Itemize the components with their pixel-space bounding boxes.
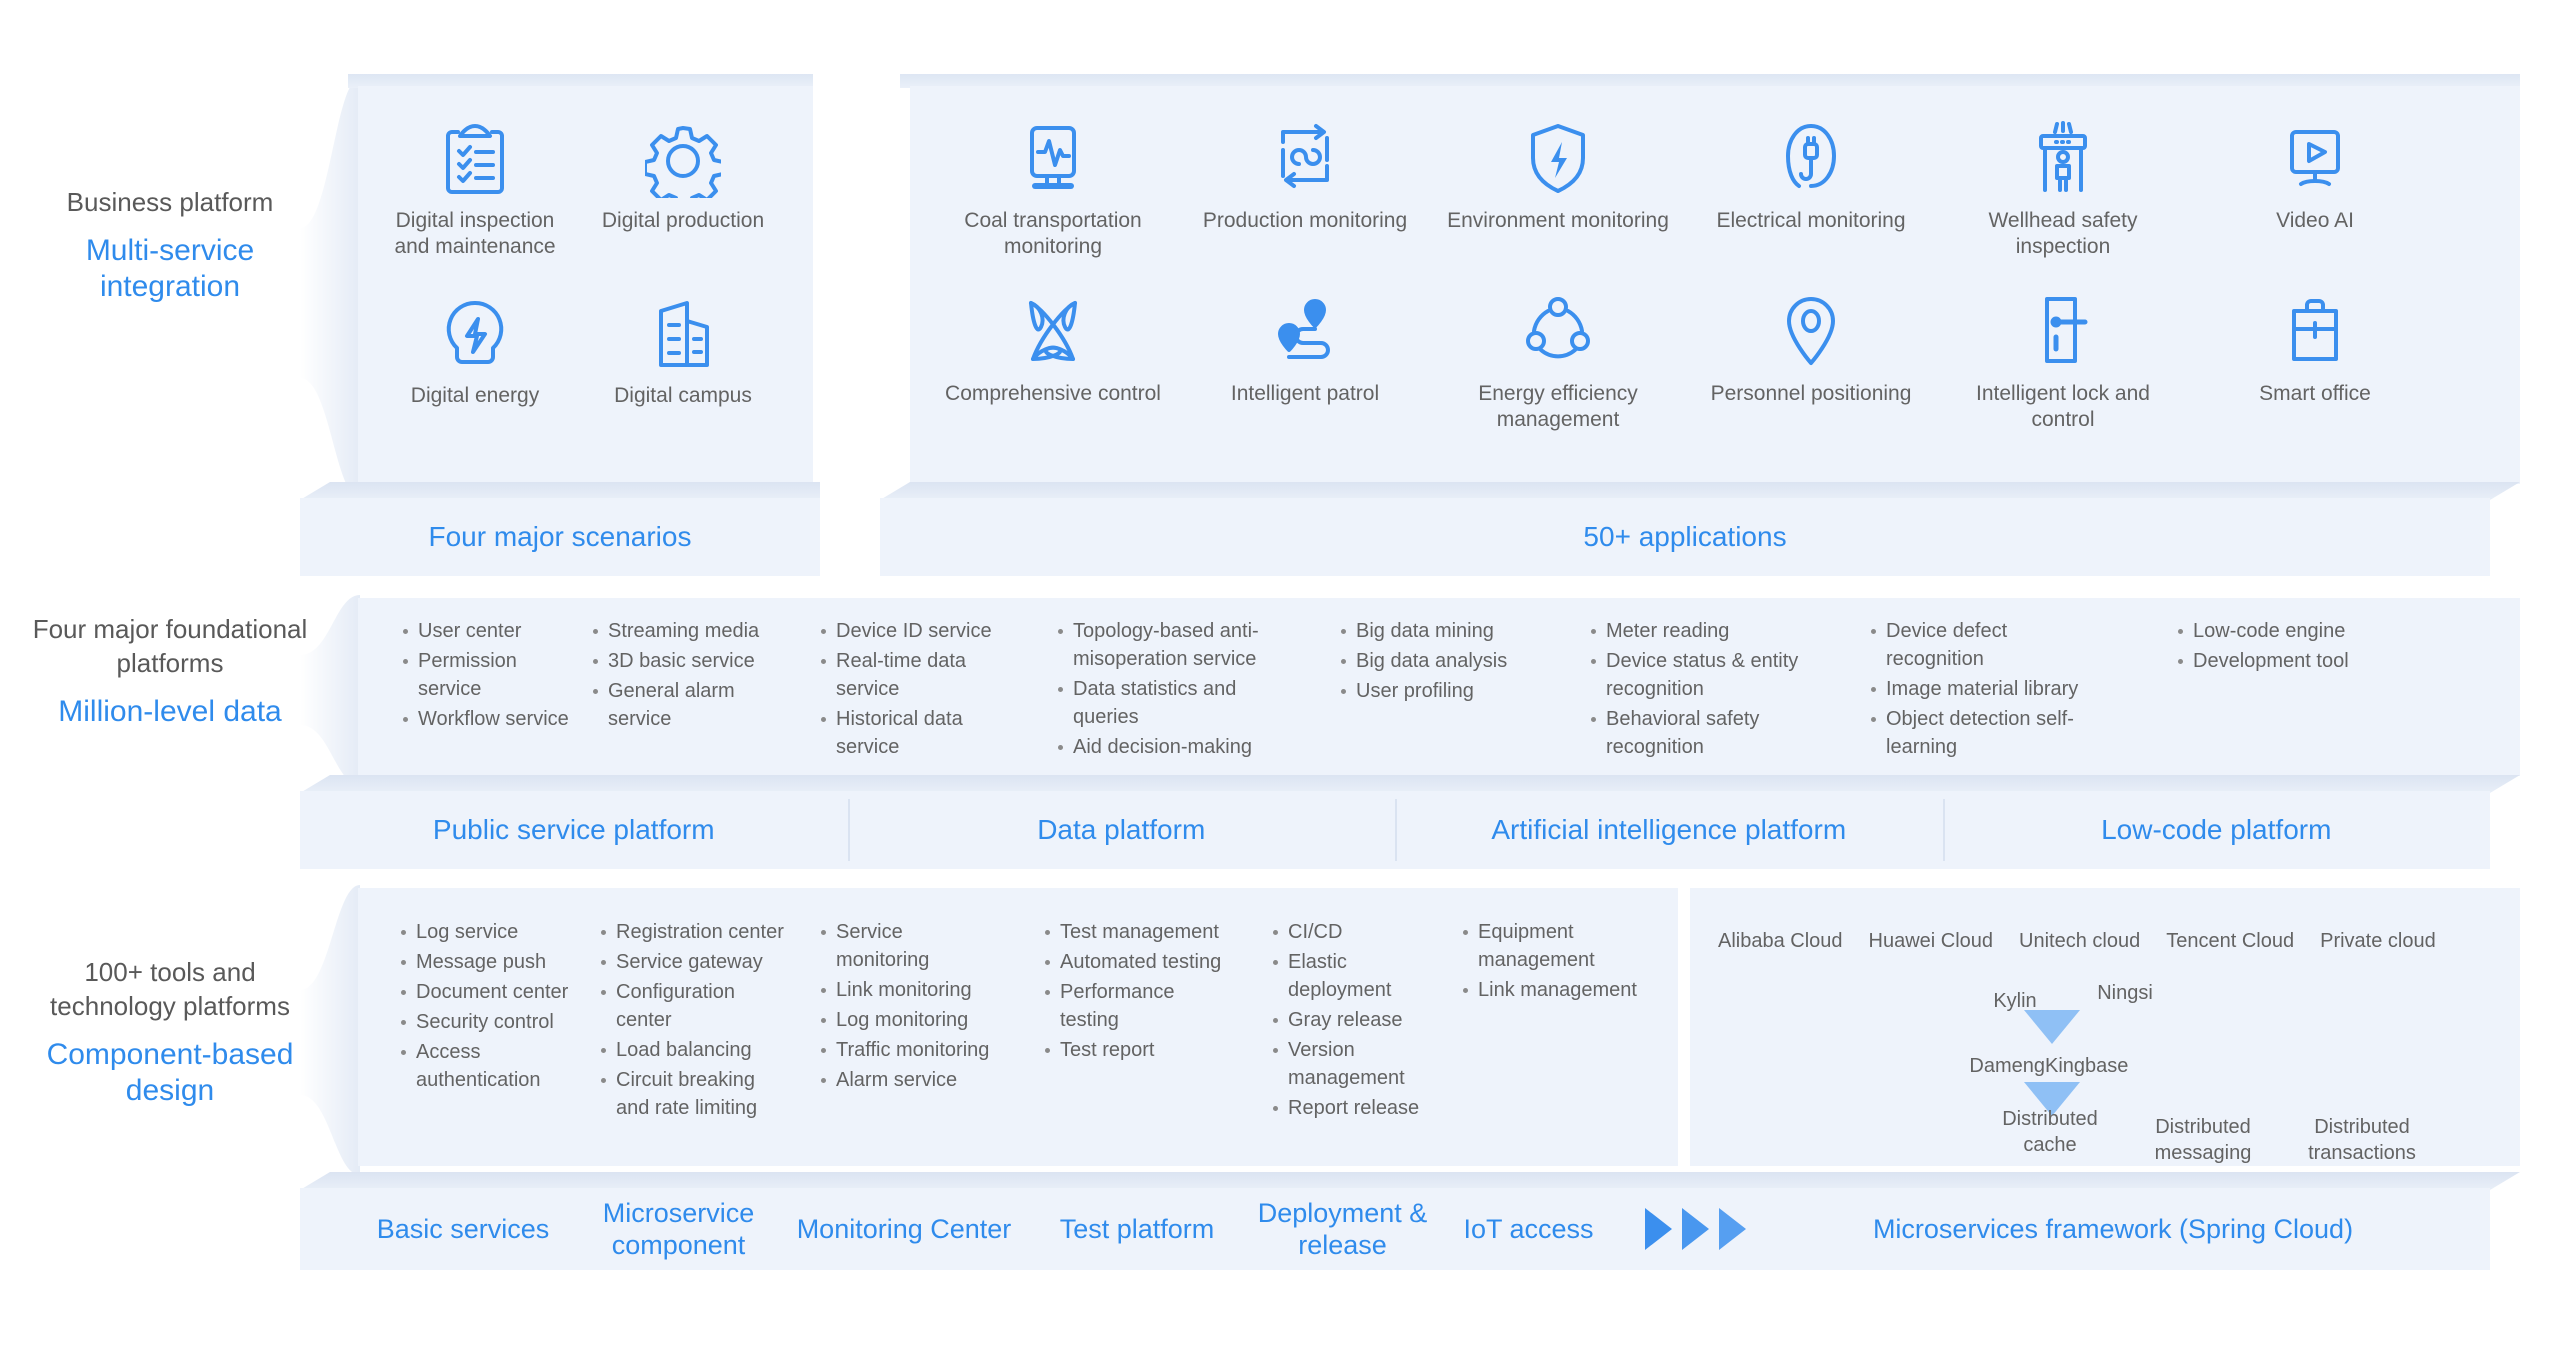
db-kingbase: Kingbase [2045,1053,2185,1079]
list-item: Automated testing [1042,948,1227,976]
distributed-cache: Distributed cache [1975,1106,2125,1158]
list-item: Log monitoring [818,1006,993,1034]
application-tile-1[interactable]: Production monitoring [1190,120,1420,234]
application-caption-10: Intelligent lock and control [1948,381,2178,433]
application-tile-2[interactable]: Environment monitoring [1443,120,1673,234]
list-item: Equipment management [1460,918,1650,974]
list-item: Historical data service [818,705,1008,761]
list-item: Object detection self-learning [1868,705,2108,761]
foundation-column-7: Low-code engine Development tool [2175,617,2395,677]
list-item: Low-code engine [2175,617,2395,645]
list-item: Topology-based anti-misoperation service [1055,617,1290,673]
scenario-tile-1[interactable]: Digital production [588,120,778,234]
platform-segment-ai[interactable]: Artificial intelligence platform [1395,814,1943,846]
application-tile-0[interactable]: Coal transportation monitoring [938,120,1168,260]
application-caption-9: Personnel positioning [1696,381,1926,407]
list-item: Access authentication [398,1038,573,1094]
foundation-highlight: Million-level data [20,694,320,730]
application-tile-8[interactable]: Energy efficiency management [1443,293,1673,433]
loop-infinity-icon [1190,120,1420,198]
list-item: Device ID service [818,617,1008,645]
cloud-provider: Unitech cloud [2019,930,2140,953]
foundation-column-3: Topology-based anti-misoperation service… [1055,617,1290,763]
component-column-3: Test management Automated testing Perfor… [1042,918,1227,1066]
scenario-caption-1: Digital production [588,208,778,234]
foundation-column-4: Big data mining Big data analysis User p… [1338,617,1548,707]
list-item: Test report [1042,1036,1227,1064]
distributed-messaging: Distributed messaging [2128,1114,2278,1166]
application-tile-11[interactable]: Smart office [2200,293,2430,407]
component-label-group: 100+ tools and technology platforms Comp… [20,955,320,1109]
video-play-icon [2200,120,2430,198]
arrow-right-2-icon [1682,1208,1709,1250]
list-item: Elastic deployment [1270,948,1430,1004]
business-platform-label-group: Business platform Multi-service integrat… [30,185,310,305]
flow-arrows-group [1645,1208,1746,1250]
list-item: Performance testing [1042,978,1227,1034]
arrow-right-3-icon [1719,1208,1746,1250]
list-item: Data statistics and queries [1055,675,1290,731]
list-item: Test management [1042,918,1227,946]
platform-segment-low-code[interactable]: Low-code platform [1943,814,2491,846]
application-tile-5[interactable]: Video AI [2200,120,2430,234]
component-column-2: Service monitoring Link monitoring Log m… [818,918,993,1096]
security-gate-icon [1948,120,2178,198]
foundation-label: Four major foundational platforms [20,612,320,680]
foundation-column-1: Streaming media 3D basic service General… [590,617,780,735]
list-item: Configuration center [598,978,788,1034]
foundation-label-group: Four major foundational platforms Millio… [20,612,320,730]
application-tile-4[interactable]: Wellhead safety inspection [1948,120,2178,260]
scenario-tile-0[interactable]: Digital inspection and maintenance [380,120,570,260]
list-item: Real-time data service [818,647,1008,703]
briefcase-icon [2200,293,2430,371]
list-item: Link management [1460,976,1650,1004]
list-item: Device defect recognition [1868,617,2108,673]
application-caption-6: Comprehensive control [938,381,1168,407]
component-highlight: Component-based design [20,1037,320,1109]
business-platform-highlight: Multi-service integration [30,233,310,305]
cloud-provider: Alibaba Cloud [1718,930,1843,953]
component-label: 100+ tools and technology platforms [20,955,320,1023]
list-item: CI/CD [1270,918,1430,946]
bottom-segment-microservices-framework[interactable]: Microservices framework (Spring Cloud) [1776,1213,2450,1245]
application-caption-11: Smart office [2200,381,2430,407]
list-item: Alarm service [818,1066,993,1094]
component-column-0: Log service Message push Document center… [398,918,573,1096]
list-item: User profiling [1338,677,1548,705]
route-pins-icon [1190,293,1420,371]
list-item: Security control [398,1008,573,1036]
application-caption-8: Energy efficiency management [1443,381,1673,433]
list-item: Report release [1270,1094,1430,1122]
arrow-right-1-icon [1645,1208,1672,1250]
component-column-5: Equipment management Link management [1460,918,1650,1006]
application-caption-7: Intelligent patrol [1190,381,1420,407]
application-caption-4: Wellhead safety inspection [1948,208,2178,260]
foundation-platform-bar: Public service platform Data platform Ar… [300,791,2490,869]
list-item: Gray release [1270,1006,1430,1034]
application-caption-5: Video AI [2200,208,2430,234]
list-item: Message push [398,948,573,976]
application-caption-0: Coal transportation monitoring [938,208,1168,260]
list-item: Big data analysis [1338,647,1548,675]
bottom-segment-microservice-component[interactable]: Microservice component [586,1197,771,1261]
scenario-caption-2: Digital energy [380,383,570,409]
clipboard-check-icon [380,120,570,198]
foundation-column-6: Device defect recognition Image material… [1868,617,2108,763]
list-item: Version management [1270,1036,1430,1092]
list-item: Workflow service [400,705,580,733]
plug-icon [1696,120,1926,198]
gear-icon [588,120,778,198]
circle-nodes-icon [1443,293,1673,371]
scenario-caption-0: Digital inspection and maintenance [380,208,570,260]
list-item: Service gateway [598,948,788,976]
foundation-column-5: Meter reading Device status & entity rec… [1588,617,1803,763]
platform-segment-data[interactable]: Data platform [848,814,1396,846]
component-column-4: CI/CD Elastic deployment Gray release Ve… [1270,918,1430,1124]
application-tile-7[interactable]: Intelligent patrol [1190,293,1420,407]
list-item: Meter reading [1588,617,1803,645]
energy-bolt-icon [380,295,570,373]
list-item: Link monitoring [818,976,993,1004]
list-item: 3D basic service [590,647,780,675]
list-item: Log service [398,918,573,946]
cloud-provider: Private cloud [2320,930,2436,953]
list-item: Service monitoring [818,918,993,974]
scenarios-ribbon[interactable]: Four major scenarios [300,498,820,576]
list-item: Streaming media [590,617,780,645]
list-item: Aid decision-making [1055,733,1290,761]
bottom-bar: Basic services Microservice component Mo… [300,1188,2490,1270]
stack-arrow-1-icon [2024,1010,2080,1044]
list-item: Load balancing [598,1036,788,1064]
db-dameng: Dameng [1905,1053,2045,1079]
scenarios-ribbon-label: Four major scenarios [429,520,692,554]
door-lock-icon [1948,293,2178,371]
application-tile-6[interactable]: Comprehensive control [938,293,1168,407]
foundation-column-2: Device ID service Real-time data service… [818,617,1008,763]
cloud-provider: Tencent Cloud [2166,930,2294,953]
list-item: Development tool [2175,647,2395,675]
monitor-waveform-icon [938,120,1168,198]
foundation-column-0: User center Permission service Workflow … [400,617,580,735]
shield-bolt-icon [1443,120,1673,198]
list-item: General alarm service [590,677,780,733]
list-item: Circuit breaking and rate limiting [598,1066,788,1122]
business-platform-label: Business platform [30,185,310,219]
list-item: Behavioral safety recognition [1588,705,1803,761]
cloud-providers-row: Alibaba Cloud Huawei Cloud Unitech cloud… [1718,930,2436,953]
list-item: User center [400,617,580,645]
crossed-arrows-icon [938,293,1168,371]
list-item: Image material library [1868,675,2108,703]
distributed-transactions: Distributed transactions [2282,1114,2442,1166]
applications-ribbon-label: 50+ applications [1583,520,1786,554]
bottom-segment-monitoring-center[interactable]: Monitoring Center [789,1213,1019,1245]
platform-segment-public-service[interactable]: Public service platform [300,814,848,846]
list-item: Document center [398,978,573,1006]
applications-ribbon[interactable]: 50+ applications [880,498,2490,576]
list-item: Registration center [598,918,788,946]
bottom-segment-deployment-release[interactable]: Deployment & release [1255,1197,1430,1261]
building-icon [588,295,778,373]
list-item: Big data mining [1338,617,1548,645]
cloud-provider: Huawei Cloud [1869,930,1994,953]
os-ningsi: Ningsi [2070,980,2180,1006]
bottom-segment-basic-services[interactable]: Basic services [358,1213,568,1245]
list-item: Traffic monitoring [818,1036,993,1064]
application-tile-9[interactable]: Personnel positioning [1696,293,1926,407]
scenario-tile-2[interactable]: Digital energy [380,295,570,409]
application-tile-10[interactable]: Intelligent lock and control [1948,293,2178,433]
application-caption-3: Electrical monitoring [1696,208,1926,234]
bottom-segment-test-platform[interactable]: Test platform [1037,1213,1237,1245]
list-item: Permission service [400,647,580,703]
bottom-segment-iot-access[interactable]: IoT access [1446,1213,1611,1245]
component-column-1: Registration center Service gateway Conf… [598,918,788,1124]
application-caption-2: Environment monitoring [1443,208,1673,234]
map-pin-icon [1696,293,1926,371]
list-item: Device status & entity recognition [1588,647,1803,703]
application-caption-1: Production monitoring [1190,208,1420,234]
application-tile-3[interactable]: Electrical monitoring [1696,120,1926,234]
scenario-caption-3: Digital campus [588,383,778,409]
scenario-tile-3[interactable]: Digital campus [588,295,778,409]
